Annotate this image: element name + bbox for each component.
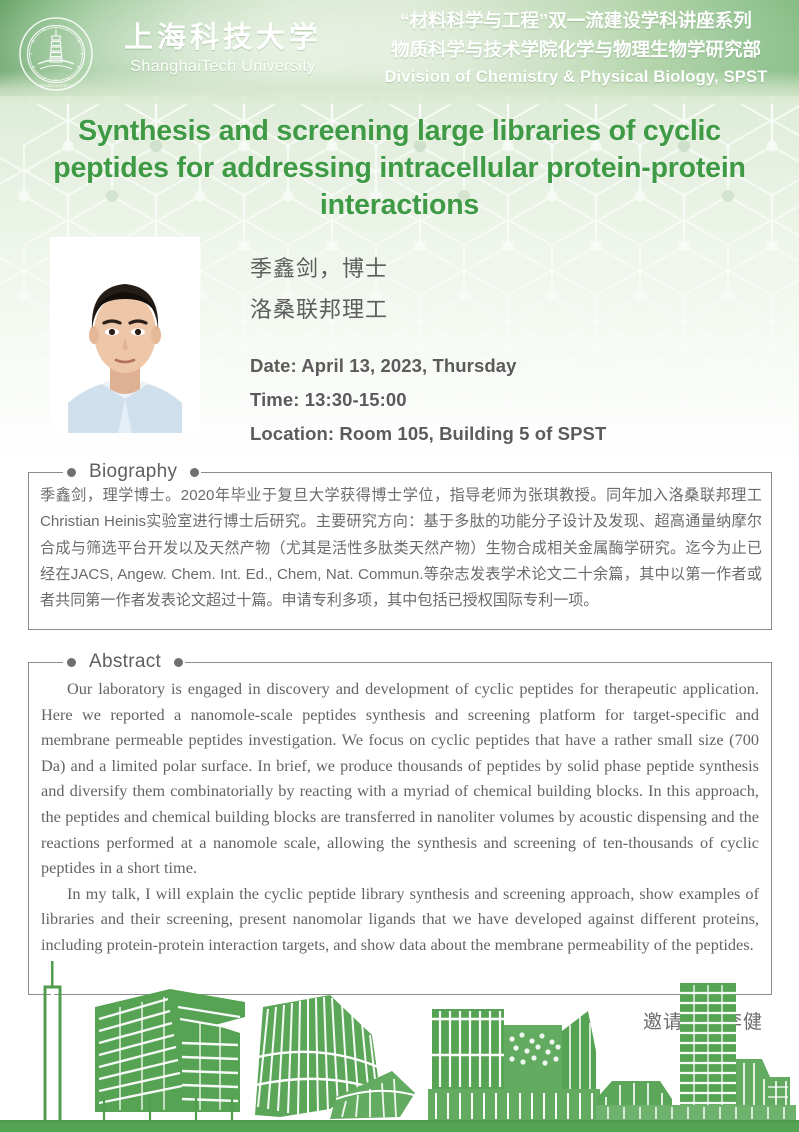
talk-meta-block: Date: April 13, 2023, Thursday Time: 13:… xyxy=(250,349,770,451)
lattice-tower xyxy=(37,961,75,1128)
building-complex xyxy=(428,1009,600,1121)
talk-date: Date: April 13, 2023, Thursday xyxy=(250,349,770,383)
series-line-2: 物质科学与技术学院化学与物理生物学研究部 xyxy=(360,35,792,64)
svg-text:SHANGHAITECH: SHANGHAITECH xyxy=(39,83,72,88)
abstract-paragraph-1: Our laboratory is engaged in discovery a… xyxy=(41,676,759,881)
speaker-info-block: 季鑫剑，博士 洛桑联邦理工 Date: April 13, 2023, Thur… xyxy=(250,248,770,451)
talk-location: Location: Room 105, Building 5 of SPST xyxy=(250,417,770,451)
abstract-label-text: Abstract xyxy=(76,651,174,673)
shanghai-campus-skyline-illustration xyxy=(0,947,799,1132)
series-title-block: “材料科学与工程”双一流建设学科讲座系列 物质科学与技术学院化学与物理生物学研究… xyxy=(360,6,792,90)
talk-time: Time: 13:30-15:00 xyxy=(250,383,770,417)
building-terraced xyxy=(95,989,245,1123)
biography-label-text: Biography xyxy=(76,461,190,483)
abstract-paragraph-2: In my talk, I will explain the cyclic pe… xyxy=(41,881,759,958)
page-title: Synthesis and screening large libraries … xyxy=(26,113,773,224)
abstract-section-label: Abstract xyxy=(65,650,185,674)
label-dot-left xyxy=(67,468,76,477)
series-line-3: Division of Chemistry & Physical Biology… xyxy=(360,64,792,90)
building-arena xyxy=(255,995,415,1119)
poster-header: SHANGHAITECH 上海科技大学 ShanghaiTech Univers… xyxy=(0,0,799,96)
university-name-block: 上海科技大学 ShanghaiTech University xyxy=(98,20,348,78)
university-name-en: ShanghaiTech University xyxy=(98,56,348,78)
speaker-affiliation: 洛桑联邦理工 xyxy=(250,289,770,330)
abstract-text: Our laboratory is engaged in discovery a… xyxy=(41,676,759,958)
university-name-cn: 上海科技大学 xyxy=(98,20,348,56)
label-dot-left xyxy=(67,658,76,667)
speaker-portrait-photo xyxy=(50,237,200,433)
biography-section-label: Biography xyxy=(65,460,201,484)
building-tower-right xyxy=(596,983,796,1121)
speaker-name: 季鑫剑，博士 xyxy=(250,248,770,289)
label-dot-right xyxy=(174,658,183,667)
seminar-poster: SHANGHAITECH 上海科技大学 ShanghaiTech Univers… xyxy=(0,0,799,1132)
biography-text: 季鑫剑，理学博士。2020年毕业于复旦大学获得博士学位，指导老师为张琪教授。同年… xyxy=(40,483,762,614)
series-line-1: “材料科学与工程”双一流建设学科讲座系列 xyxy=(360,6,792,35)
shanghaitech-seal-logo-icon: SHANGHAITECH xyxy=(18,16,94,92)
label-dot-right xyxy=(190,468,199,477)
